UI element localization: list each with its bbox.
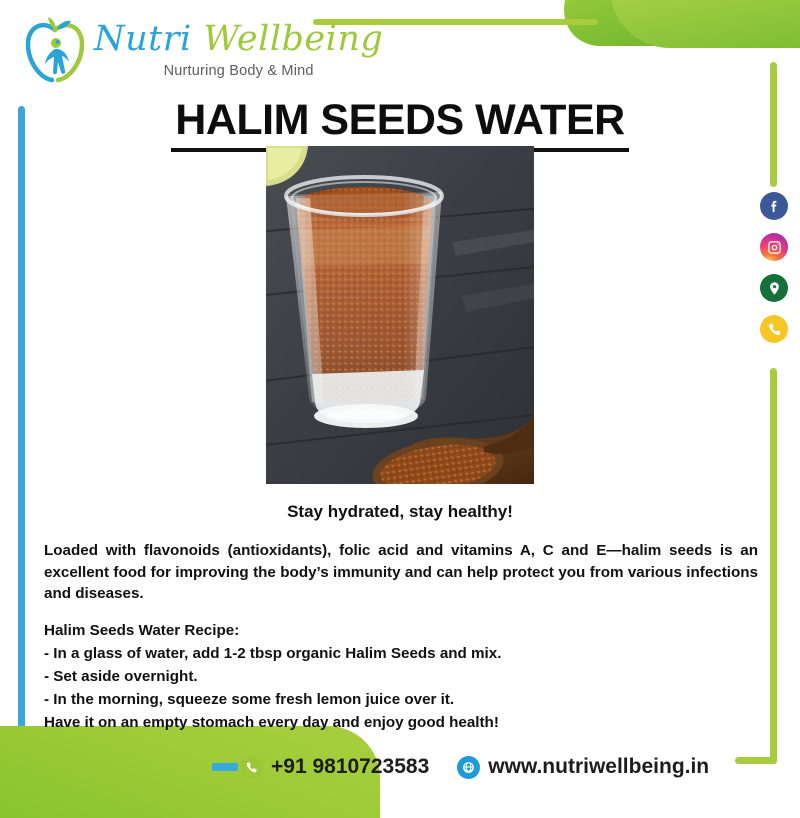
left-blue-rule [18, 106, 25, 746]
recipe-step: - In a glass of water, add 1-2 tbsp orga… [44, 642, 684, 665]
page-title-text: HALIM SEEDS WATER [171, 96, 628, 152]
globe-icon [457, 756, 480, 779]
recipe-step: - In the morning, squeeze some fresh lem… [44, 688, 684, 711]
facebook-icon[interactable] [760, 192, 788, 220]
recipe-closing: Have it on an empty stomach every day an… [44, 711, 684, 734]
right-green-rule-bottom [770, 368, 777, 764]
poster-canvas: Nutri Wellbeing Nurturing Body & Mind HA… [0, 0, 800, 800]
social-links [760, 192, 788, 343]
page-title: HALIM SEEDS WATER [0, 96, 800, 152]
body-paragraph: Loaded with flavonoids (antioxidants), f… [44, 540, 758, 605]
phone-icon[interactable] [760, 315, 788, 343]
footer-contact: +91 9810723583 www.nutriwellbeing.in [240, 755, 709, 779]
hero-photo [266, 146, 534, 484]
recipe-step: - Set aside overnight. [44, 665, 684, 688]
footer-blue-dash [212, 763, 238, 771]
footer-website[interactable]: www.nutriwellbeing.in [488, 755, 709, 779]
brand-tagline: Nurturing Body & Mind [94, 63, 383, 79]
recipe-heading: Halim Seeds Water Recipe: [44, 619, 684, 642]
recipe-block: Halim Seeds Water Recipe: - In a glass o… [44, 619, 684, 734]
phone-icon [240, 756, 263, 779]
location-pin-icon[interactable] [760, 274, 788, 302]
footer-phone-number[interactable]: +91 9810723583 [271, 755, 429, 779]
brand-name-part2: Wellbeing [203, 19, 383, 59]
apple-wellness-logo-icon [22, 16, 88, 86]
brand-logo: Nutri Wellbeing Nurturing Body & Mind [22, 16, 383, 86]
bottom-right-green-hook [735, 757, 777, 764]
photo-caption: Stay hydrated, stay healthy! [0, 502, 800, 522]
brand-wordmark: Nutri Wellbeing [94, 22, 383, 57]
brand-name-part1: Nutri [94, 19, 192, 59]
instagram-icon[interactable] [760, 233, 788, 261]
